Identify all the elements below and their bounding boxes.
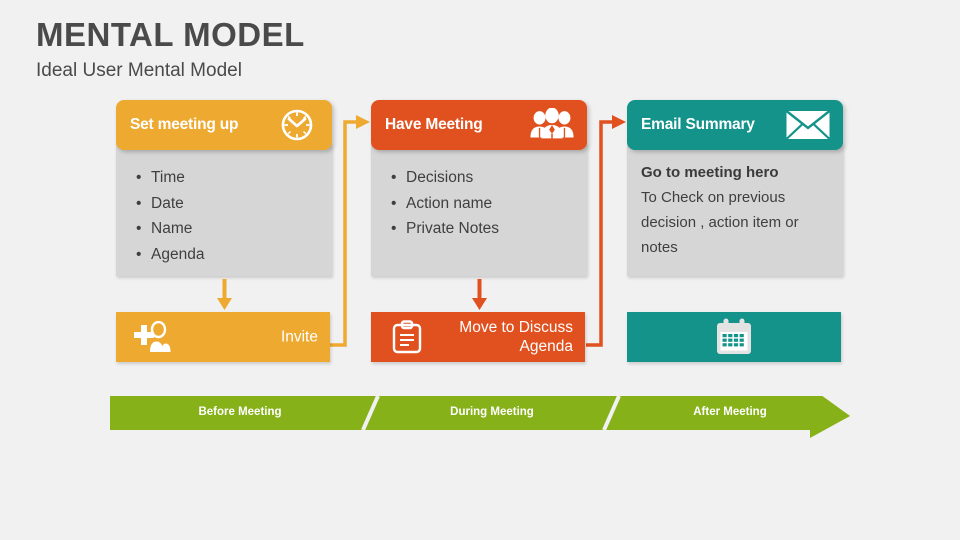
- card-header-have-meeting[interactable]: Have Meeting: [371, 100, 587, 150]
- arrow-down-card1: [217, 279, 232, 310]
- people-group-icon: [529, 108, 575, 142]
- slide-canvas: MENTAL MODEL Ideal User Mental Model Set…: [0, 0, 960, 540]
- calendar-icon: [714, 320, 754, 354]
- action-invite[interactable]: Invite: [116, 312, 330, 362]
- action-label: Invite: [281, 328, 318, 347]
- action-calendar[interactable]: [627, 312, 841, 362]
- add-person-icon: [132, 320, 172, 354]
- action-move-to-discuss[interactable]: Move to Discuss Agenda: [371, 312, 585, 362]
- card-header-email-summary[interactable]: Email Summary: [627, 100, 843, 150]
- arrow-down-card2: [472, 279, 487, 310]
- card-header-set-meeting-up[interactable]: Set meeting up: [116, 100, 332, 150]
- envelope-icon: [785, 108, 831, 142]
- connector-discuss-to-email: [586, 115, 626, 345]
- connector-layer: [0, 0, 960, 440]
- card-header-label: Have Meeting: [385, 116, 483, 134]
- connector-invite-to-have-meeting: [330, 115, 370, 345]
- card-header-label: Email Summary: [641, 116, 755, 134]
- card-header-label: Set meeting up: [130, 116, 238, 134]
- action-label: Move to Discuss Agenda: [459, 318, 573, 356]
- clock-icon: [274, 108, 320, 142]
- clipboard-icon: [387, 320, 427, 354]
